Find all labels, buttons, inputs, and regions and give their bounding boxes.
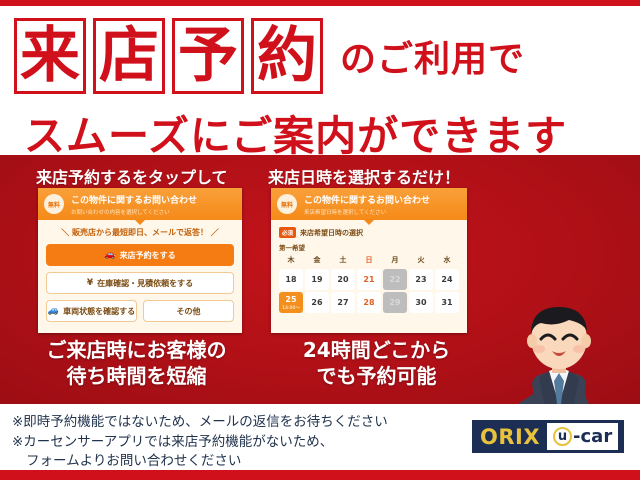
- calendar-day-number: 19: [311, 275, 322, 284]
- calendar-body: 必須 来店希望日時の選択 第一希望 木金土日月火水181920212223242…: [271, 220, 467, 313]
- calendar-day-25[interactable]: 2514:00～: [279, 292, 303, 313]
- bottom-accent-rule: [0, 470, 640, 480]
- mockup-header-text: この物件に関するお問い合わせ お問い合わせの内容を選択してください: [71, 193, 197, 216]
- calendar-title: 来店希望日時の選択: [300, 228, 363, 238]
- ucar-wordmark: u -car: [547, 423, 618, 450]
- yen-icon: ¥: [87, 279, 93, 288]
- other-label: その他: [177, 306, 201, 317]
- benefit-line: 待ち時間を短縮: [14, 364, 259, 390]
- disclaimer-line-3: フォームよりお問い合わせください: [12, 452, 462, 472]
- calendar-day-24[interactable]: 24: [435, 269, 459, 290]
- stock-quote-label: 在庫確認・見積依頼をする: [97, 278, 193, 289]
- calendar-day-18[interactable]: 18: [279, 269, 303, 290]
- calendar-day-22: 22: [383, 269, 407, 290]
- reserve-visit-label: 来店予約をする: [120, 250, 176, 261]
- calendar-dow-火: 火: [409, 255, 433, 267]
- right-benefit-caption: 24時間どこからでも予約可能: [264, 338, 489, 389]
- u-circle-icon: u: [553, 427, 572, 446]
- calendar-day-30[interactable]: 30: [409, 292, 433, 313]
- calendar-day-number: 29: [389, 298, 400, 307]
- kanji-char-2: 店: [99, 26, 159, 86]
- calendar-day-21[interactable]: 21: [357, 269, 381, 290]
- calendar-header-subtitle: 来店希望日時を選択してください: [304, 208, 430, 216]
- disclaimer-line-1: ※即時予約機能ではないため、メールの返信をお待ちください: [12, 413, 462, 433]
- mockup-header-subtitle: お問い合わせの内容を選択してください: [71, 208, 197, 216]
- other-button[interactable]: その他: [143, 300, 234, 322]
- left-panel-heading: 来店予約するをタップして: [36, 164, 228, 188]
- calendar-header-title: この物件に関するお問い合わせ: [304, 193, 430, 206]
- calendar-day-number: 18: [285, 275, 296, 284]
- headline-section: 来 店 予 約 のご利用で スムーズにご案内ができます: [0, 6, 640, 155]
- headline-line1: 来 店 予 約 のご利用で: [14, 18, 525, 94]
- features-section: 来店予約するをタップして 来店日時を選択するだけ！ 無料 この物件に関するお問い…: [0, 155, 640, 404]
- calendar-day-number: 24: [441, 275, 452, 284]
- benefit-line: でも予約可能: [264, 364, 489, 390]
- orix-wordmark: ORIX: [473, 425, 547, 449]
- kanji-char-1: 来: [20, 26, 80, 86]
- calendar-day-number: 27: [337, 298, 348, 307]
- mockup-header-title: この物件に関するお問い合わせ: [71, 193, 197, 206]
- free-badge: 無料: [44, 194, 64, 214]
- preference-label: 第一希望: [279, 242, 459, 252]
- inquiry-form-mockup: 無料 この物件に関するお問い合わせ お問い合わせの内容を選択してください ＼ 販…: [38, 188, 242, 333]
- calendar-day-number: 31: [441, 298, 452, 307]
- stock-quote-button[interactable]: ¥ 在庫確認・見積依頼をする: [46, 272, 234, 294]
- headline-line2: スムーズにご案内ができます: [24, 102, 624, 162]
- left-benefit-caption: ご来店時にお客様の待ち時間を短縮: [14, 338, 259, 389]
- calendar-day-number: 22: [389, 275, 400, 284]
- promo-text: ＼ 販売店から最短即日、メールで返答！ ／: [46, 227, 234, 238]
- calendar-day-23[interactable]: 23: [409, 269, 433, 290]
- kanji-box-3: 予: [172, 18, 244, 94]
- benefit-line: 24時間どこから: [264, 338, 489, 364]
- headline-tail-text: のご利用で: [340, 30, 525, 82]
- calendar-title-row: 必須 来店希望日時の選択: [279, 227, 459, 238]
- calendar-day-time: 14:00～: [282, 305, 299, 311]
- required-badge: 必須: [279, 227, 296, 238]
- disclaimer-text: ※即時予約機能ではないため、メールの返信をお待ちください ※カーセンサーアプリで…: [12, 413, 462, 472]
- car-icon: 🚗: [104, 251, 115, 260]
- disclaimer-line-2: ※カーセンサーアプリでは来店予約機能がないため、: [12, 433, 462, 453]
- free-badge: 無料: [277, 194, 297, 214]
- vehicle-condition-button[interactable]: 🚙 車両状態を確認する: [46, 300, 137, 322]
- calendar-day-19[interactable]: 19: [305, 269, 329, 290]
- calendar-mockup-header: 無料 この物件に関するお問い合わせ 来店希望日時を選択してください: [271, 188, 467, 220]
- mockup-body: ＼ 販売店から最短即日、メールで返答！ ／ 🚗 来店予約をする ¥ 在庫確認・見…: [38, 220, 242, 322]
- calendar-header-text: この物件に関するお問い合わせ 来店希望日時を選択してください: [304, 193, 430, 216]
- vehicle-condition-label: 車両状態を確認する: [63, 306, 135, 317]
- calendar-day-27[interactable]: 27: [331, 292, 355, 313]
- kanji-char-4: 約: [257, 26, 317, 86]
- reserve-visit-button[interactable]: 🚗 来店予約をする: [46, 244, 234, 266]
- kanji-char-3: 予: [178, 26, 238, 86]
- calendar-day-number: 30: [415, 298, 426, 307]
- calendar-day-number: 23: [415, 275, 426, 284]
- calendar-day-number: 21: [363, 275, 374, 284]
- advertisement-banner: 来 店 予 約 のご利用で スムーズにご案内ができます 来店予約するをタップして…: [0, 0, 640, 480]
- car-text: -car: [573, 426, 612, 447]
- calendar-day-26[interactable]: 26: [305, 292, 329, 313]
- kanji-box-4: 約: [251, 18, 323, 94]
- calendar-day-number: 20: [337, 275, 348, 284]
- calendar-grid: 木金土日月火水181920212223242514:00～26272829303…: [279, 255, 459, 313]
- calendar-day-20[interactable]: 20: [331, 269, 355, 290]
- calendar-dow-水: 水: [435, 255, 459, 267]
- calendar-mockup: 無料 この物件に関するお問い合わせ 来店希望日時を選択してください 必須 来店希…: [271, 188, 467, 333]
- benefit-line: ご来店時にお客様の: [14, 338, 259, 364]
- calendar-dow-土: 土: [331, 255, 355, 267]
- calendar-day-28[interactable]: 28: [357, 292, 381, 313]
- kanji-box-1: 来: [14, 18, 86, 94]
- kanji-box-2: 店: [93, 18, 165, 94]
- mockup-header: 無料 この物件に関するお問い合わせ お問い合わせの内容を選択してください: [38, 188, 242, 220]
- calendar-dow-金: 金: [305, 255, 329, 267]
- calendar-dow-月: 月: [383, 255, 407, 267]
- calendar-day-number: 28: [363, 298, 374, 307]
- calendar-day-number: 25: [285, 295, 296, 304]
- secondary-button-row: 🚙 車両状態を確認する その他: [46, 300, 234, 322]
- calendar-day-29: 29: [383, 292, 407, 313]
- right-panel-heading: 来店日時を選択するだけ！: [268, 164, 460, 188]
- calendar-day-31[interactable]: 31: [435, 292, 459, 313]
- calendar-dow-日: 日: [357, 255, 381, 267]
- calendar-day-number: 26: [311, 298, 322, 307]
- orix-ucar-logo: ORIX u -car: [472, 420, 624, 453]
- car-icon: 🚙: [48, 307, 59, 316]
- calendar-dow-木: 木: [279, 255, 303, 267]
